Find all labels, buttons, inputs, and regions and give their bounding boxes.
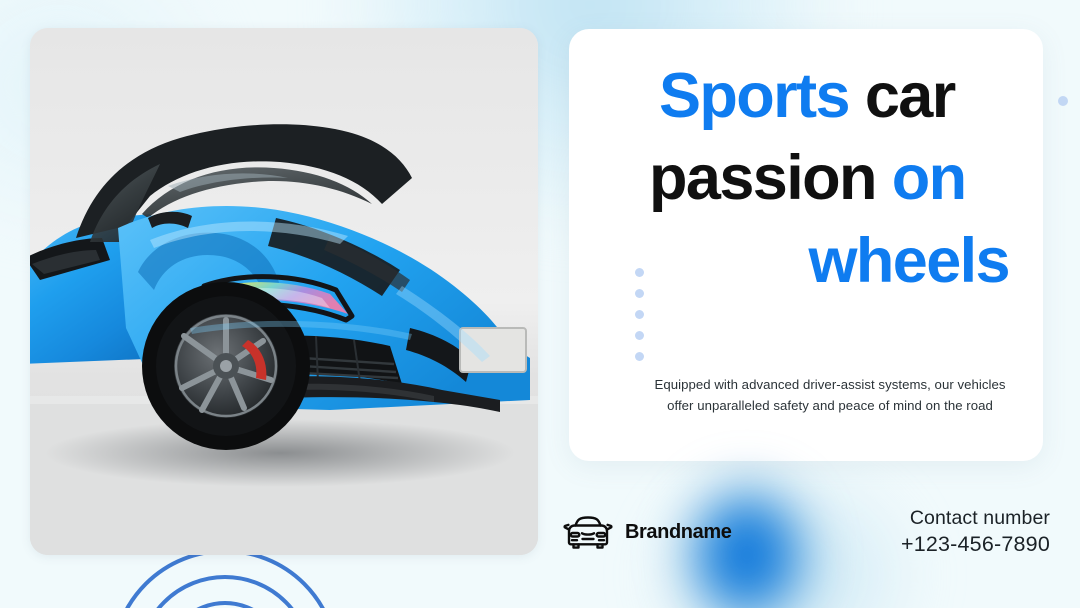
- bullet-dot: [635, 331, 644, 340]
- car-front-icon: [562, 512, 614, 552]
- headline-word-car: car: [849, 61, 955, 131]
- headline-word-sports: Sports: [659, 61, 849, 131]
- hero-car-photo: [30, 28, 538, 555]
- headline-line-3: wheels: [597, 231, 1015, 291]
- headline-word-wheels: wheels: [808, 226, 1009, 296]
- brand-name: Brandname: [625, 521, 731, 544]
- page-title: Sports car passion on wheels: [597, 66, 1015, 291]
- banner-stage: Sports car passion on wheels Equipped wi…: [0, 0, 1080, 608]
- headline-line-1: Sports car: [597, 66, 1015, 126]
- edge-dot-decoration: [1058, 96, 1068, 106]
- contact-label: Contact number: [901, 506, 1050, 531]
- headline-card: Sports car passion on wheels Equipped wi…: [569, 29, 1043, 461]
- body-copy: Equipped with advanced driver-assist sys…: [645, 374, 1015, 417]
- headline-word-passion: passion: [649, 143, 876, 213]
- bullet-dot: [635, 268, 644, 277]
- contact-number[interactable]: +123-456-7890: [901, 531, 1050, 559]
- bullet-dot: [635, 352, 644, 361]
- bullet-dots-decoration: [635, 268, 644, 361]
- headline-word-on: on: [876, 143, 966, 213]
- bullet-dot: [635, 310, 644, 319]
- bullet-dot: [635, 289, 644, 298]
- headline-line-2: passion on: [597, 148, 1015, 208]
- brand-lockup[interactable]: Brandname: [562, 512, 731, 552]
- contact-block: Contact number +123-456-7890: [901, 506, 1050, 558]
